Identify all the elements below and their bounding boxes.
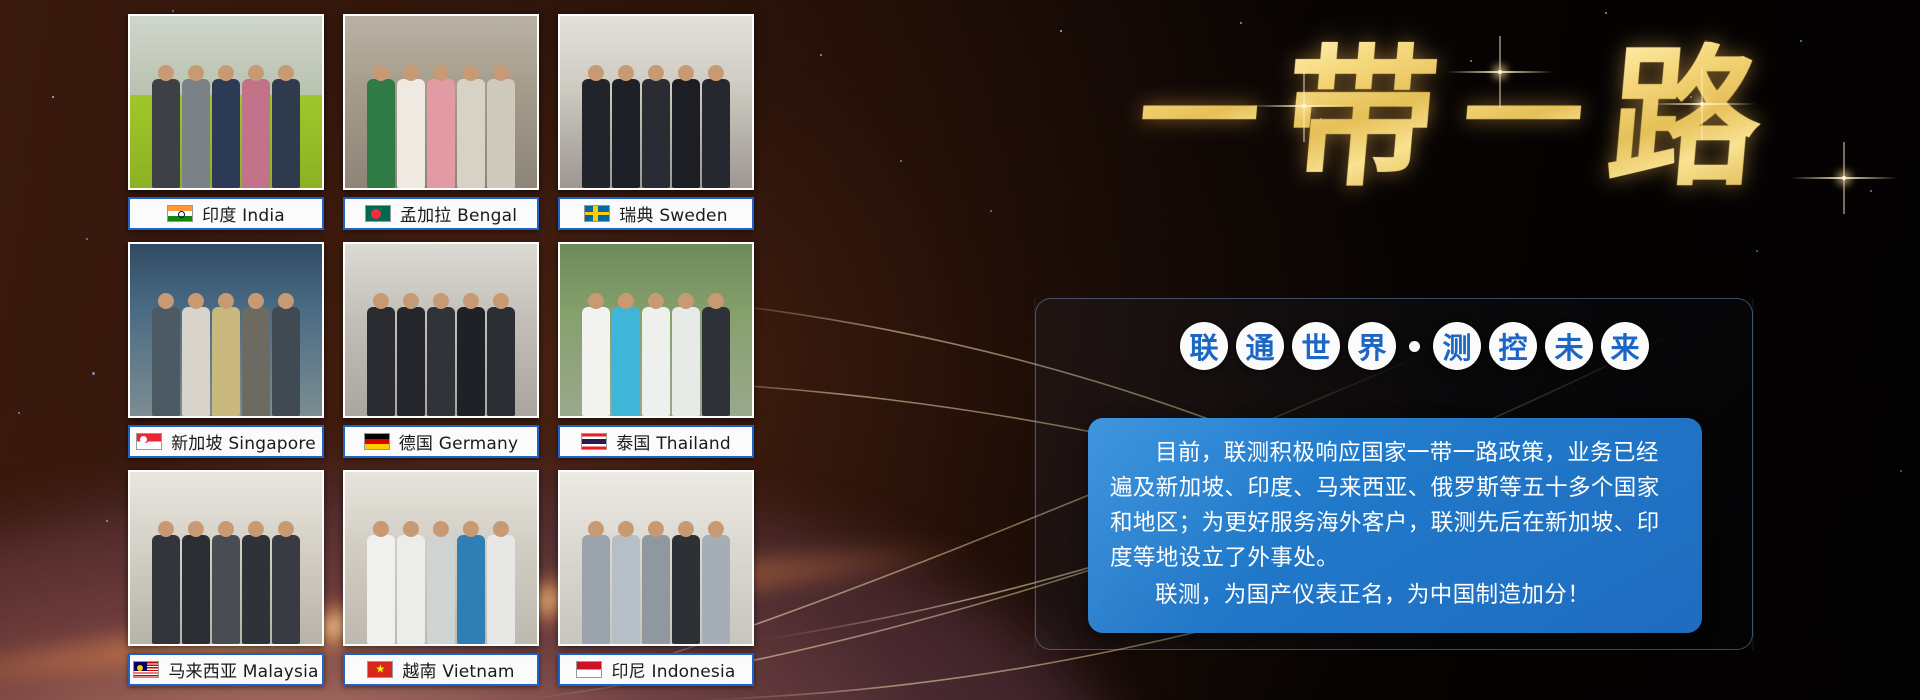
photo-figure [702, 535, 730, 644]
photo-figure [272, 79, 300, 188]
calligraphy-title: 一 带 一 路 [1010, 8, 1890, 228]
photo-image [558, 242, 754, 418]
slogan-separator-dot [1409, 341, 1420, 352]
photo-label: 马来西亚 Malaysia [128, 653, 324, 686]
slogan-char-1: 联 [1180, 322, 1228, 370]
photo-figure [242, 307, 270, 416]
bengal-flag [365, 205, 391, 222]
photo-label-text: 马来西亚 Malaysia [168, 657, 318, 682]
sparkle-icon [1498, 70, 1502, 74]
germany-flag [364, 433, 390, 450]
photo-figure [582, 535, 610, 644]
photo-figure [397, 535, 425, 644]
photo-card-singapore[interactable]: 新加坡 Singapore [128, 242, 324, 458]
photo-figure [152, 79, 180, 188]
sparkle-icon [1302, 104, 1306, 108]
photo-label-text: 孟加拉 Bengal [400, 201, 517, 226]
photo-figure [397, 79, 425, 188]
photo-figure [702, 79, 730, 188]
slogan-char-5: 测 [1433, 322, 1481, 370]
photo-card-thailand[interactable]: 泰国 Thailand [558, 242, 754, 458]
photo-image [558, 470, 754, 646]
photo-card-vietnam[interactable]: 越南 Vietnam [343, 470, 539, 686]
photo-card-germany[interactable]: 德国 Germany [343, 242, 539, 458]
slogan-char-2: 通 [1236, 322, 1284, 370]
slogan-char-8: 来 [1601, 322, 1649, 370]
photo-card-malaysia[interactable]: 马来西亚 Malaysia [128, 470, 324, 686]
slogan-badges: 联 通 世 界 测 控 未 来 [1180, 322, 1649, 370]
photo-label-text: 越南 Vietnam [402, 657, 514, 682]
photo-label-text: 德国 Germany [399, 429, 519, 454]
photo-label: 孟加拉 Bengal [343, 197, 539, 230]
vietnam-flag [367, 661, 393, 678]
calligraphy-char-4: 路 [1602, 42, 1767, 194]
photo-card-indonesia[interactable]: 印尼 Indonesia [558, 470, 754, 686]
photo-figure [182, 79, 210, 188]
photo-figure [212, 307, 240, 416]
singapore-flag [136, 433, 162, 450]
thailand-flag [581, 433, 607, 450]
country-photo-grid: 印度 India 孟加拉 Bengal 瑞典 Sweden [128, 14, 754, 686]
photo-figure [702, 307, 730, 416]
photo-figure [152, 307, 180, 416]
photo-figure [582, 307, 610, 416]
description-textbox: 目前，联测积极响应国家一带一路政策，业务已经遍及新加坡、印度、马来西亚、俄罗斯等… [1088, 418, 1702, 633]
photo-figure [672, 307, 700, 416]
calligraphy-char-3: 一 [1458, 58, 1588, 178]
photo-figure [367, 79, 395, 188]
photo-figure [582, 79, 610, 188]
photo-label-text: 印度 India [202, 201, 285, 226]
photo-figure [427, 535, 455, 644]
photo-figure [457, 307, 485, 416]
photo-people [345, 292, 537, 416]
photo-figure [457, 535, 485, 644]
photo-figure [397, 307, 425, 416]
photo-figure [487, 79, 515, 188]
photo-figure [457, 79, 485, 188]
photo-image [343, 242, 539, 418]
photo-figure [182, 307, 210, 416]
photo-label-text: 瑞典 Sweden [619, 201, 727, 226]
photo-figure [367, 307, 395, 416]
photo-figure [642, 535, 670, 644]
photo-label-text: 新加坡 Singapore [171, 429, 316, 454]
india-flag [167, 205, 193, 222]
photo-people [560, 292, 752, 416]
photo-figure [612, 535, 640, 644]
photo-label-text: 泰国 Thailand [616, 429, 731, 454]
photo-people [345, 520, 537, 644]
photo-label: 泰国 Thailand [558, 425, 754, 458]
photo-figure [212, 535, 240, 644]
slogan-char-7: 未 [1545, 322, 1593, 370]
photo-label: 印尼 Indonesia [558, 653, 754, 686]
photo-figure [612, 307, 640, 416]
photo-card-bengal[interactable]: 孟加拉 Bengal [343, 14, 539, 230]
sparkle-icon [1842, 176, 1846, 180]
photo-image [128, 242, 324, 418]
photo-people [345, 64, 537, 188]
photo-card-sweden[interactable]: 瑞典 Sweden [558, 14, 754, 230]
description-paragraph-1: 目前，联测积极响应国家一带一路政策，业务已经遍及新加坡、印度、马来西亚、俄罗斯等… [1110, 436, 1680, 576]
photo-image [343, 470, 539, 646]
malaysia-flag [133, 661, 159, 678]
photo-image [343, 14, 539, 190]
photo-figure [642, 79, 670, 188]
photo-people [130, 292, 322, 416]
photo-figure [212, 79, 240, 188]
photo-figure [242, 535, 270, 644]
photo-figure [672, 79, 700, 188]
photo-label: 瑞典 Sweden [558, 197, 754, 230]
description-paragraph-2: 联测，为国产仪表正名，为中国制造加分！ [1110, 578, 1680, 613]
photo-figure [427, 79, 455, 188]
sweden-flag [584, 205, 610, 222]
photo-people [560, 64, 752, 188]
photo-figure [272, 535, 300, 644]
photo-figure [612, 79, 640, 188]
photo-people [560, 520, 752, 644]
slogan-char-6: 控 [1489, 322, 1537, 370]
calligraphy-char-1: 一 [1134, 58, 1264, 178]
slogan-char-3: 世 [1292, 322, 1340, 370]
photo-people [130, 520, 322, 644]
photo-people [130, 64, 322, 188]
sparkle-icon [1700, 102, 1704, 106]
banner-root: 一 带 一 路 印度 India 孟加拉 B [0, 0, 1920, 700]
photo-figure [367, 535, 395, 644]
photo-figure [427, 307, 455, 416]
photo-card-india[interactable]: 印度 India [128, 14, 324, 230]
photo-image [558, 14, 754, 190]
photo-figure [487, 307, 515, 416]
slogan-char-4: 界 [1348, 322, 1396, 370]
photo-label: 印度 India [128, 197, 324, 230]
photo-image [128, 14, 324, 190]
photo-image [128, 470, 324, 646]
photo-figure [672, 535, 700, 644]
photo-label-text: 印尼 Indonesia [611, 657, 735, 682]
photo-figure [487, 535, 515, 644]
photo-figure [152, 535, 180, 644]
photo-label: 越南 Vietnam [343, 653, 539, 686]
photo-figure [642, 307, 670, 416]
indonesia-flag [576, 661, 602, 678]
photo-label: 新加坡 Singapore [128, 425, 324, 458]
photo-figure [182, 535, 210, 644]
photo-label: 德国 Germany [343, 425, 539, 458]
photo-figure [272, 307, 300, 416]
photo-figure [242, 79, 270, 188]
